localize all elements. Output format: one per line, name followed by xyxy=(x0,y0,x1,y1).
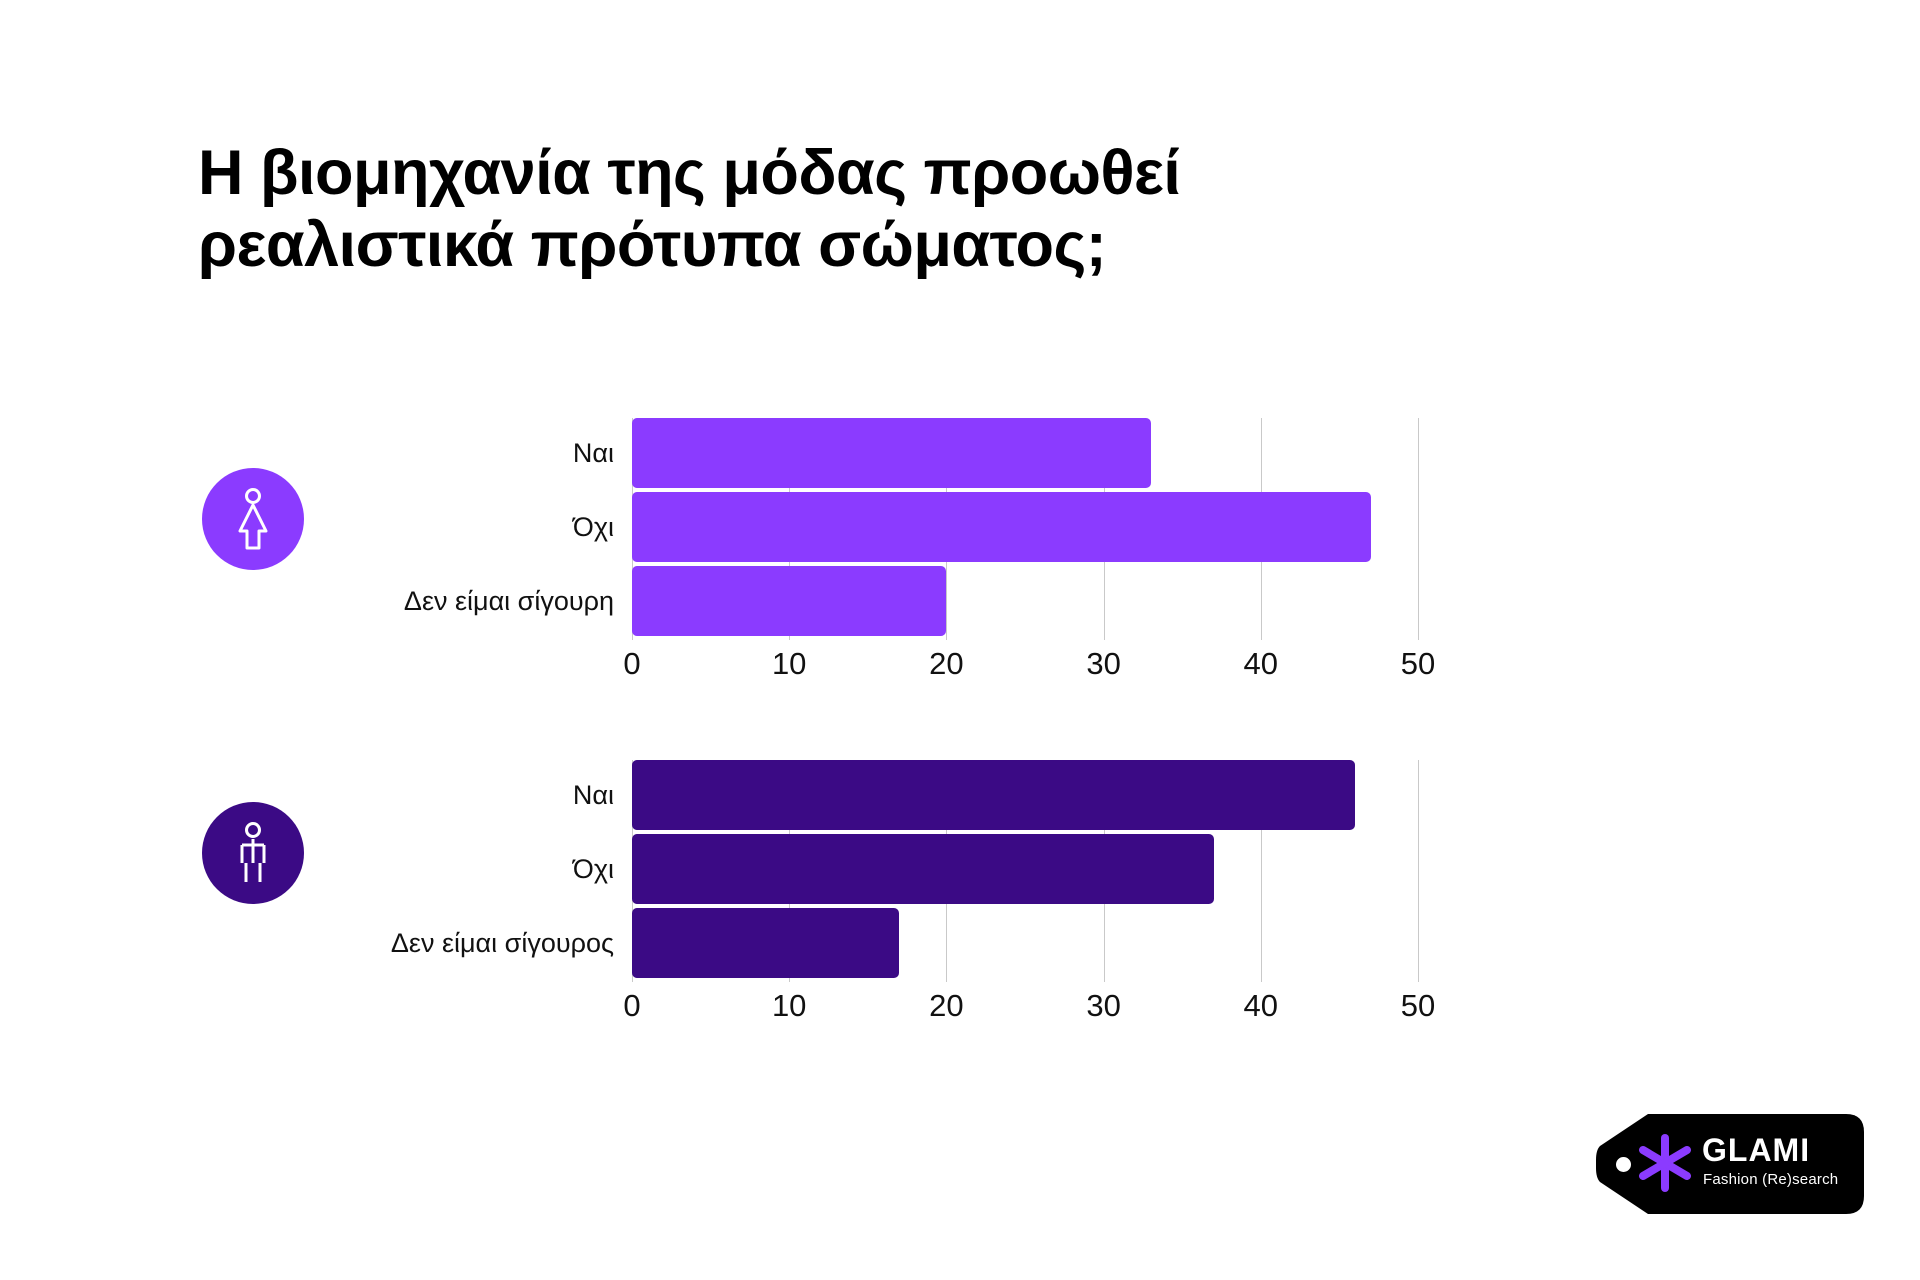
chart-female-group: ΝαιΌχιΔεν είμαι σίγουρη 01020304050 xyxy=(0,418,1920,688)
category-label: Ναι xyxy=(212,780,632,811)
x-axis-tick-label: 50 xyxy=(1401,988,1435,1024)
x-axis-tick-label: 10 xyxy=(772,646,806,682)
infographic-canvas: Η βιομηχανία της μόδας προωθεί ρεαλιστικ… xyxy=(0,0,1920,1280)
x-axis-tick-label: 0 xyxy=(623,646,640,682)
bar xyxy=(632,834,1214,904)
bar-rows-male: ΝαιΌχιΔεν είμαι σίγουρος xyxy=(0,760,1920,982)
x-axis-tick-label: 30 xyxy=(1086,988,1120,1024)
bar xyxy=(632,566,946,636)
chart-row: Ναι xyxy=(0,418,1920,488)
x-axis-tick-label: 20 xyxy=(929,646,963,682)
x-axis-tick-label: 30 xyxy=(1086,646,1120,682)
plot-area-female: ΝαιΌχιΔεν είμαι σίγουρη 01020304050 xyxy=(0,418,1920,688)
bar-rows-female: ΝαιΌχιΔεν είμαι σίγουρη xyxy=(0,418,1920,640)
x-axis-tick-label: 10 xyxy=(772,988,806,1024)
x-axis-tick-label: 40 xyxy=(1244,988,1278,1024)
bar xyxy=(632,908,899,978)
x-axis-tick-label: 40 xyxy=(1244,646,1278,682)
chart-row: Ναι xyxy=(0,760,1920,830)
chart-male-group: ΝαιΌχιΔεν είμαι σίγουρος 01020304050 xyxy=(0,760,1920,1030)
glami-wordmark: GLAMI xyxy=(1702,1134,1810,1166)
x-axis-female: 01020304050 xyxy=(632,646,1418,694)
glami-tagline: Fashion (Re)search xyxy=(1703,1172,1838,1187)
x-axis-male: 01020304050 xyxy=(632,988,1418,1036)
tag-hole-icon xyxy=(1616,1157,1631,1172)
category-label: Ναι xyxy=(212,438,632,469)
chart-row: Δεν είμαι σίγουρος xyxy=(0,908,1920,978)
page-title: Η βιομηχανία της μόδας προωθεί ρεαλιστικ… xyxy=(198,138,1598,282)
bar xyxy=(632,418,1151,488)
chart-row: Όχι xyxy=(0,834,1920,904)
x-axis-tick-label: 20 xyxy=(929,988,963,1024)
category-label: Όχι xyxy=(212,854,632,885)
x-axis-tick-label: 50 xyxy=(1401,646,1435,682)
bar xyxy=(632,492,1371,562)
bar xyxy=(632,760,1355,830)
category-label: Δεν είμαι σίγουρη xyxy=(212,586,632,617)
x-axis-tick-label: 0 xyxy=(623,988,640,1024)
chart-row: Δεν είμαι σίγουρη xyxy=(0,566,1920,636)
plot-area-male: ΝαιΌχιΔεν είμαι σίγουρος 01020304050 xyxy=(0,760,1920,1030)
category-label: Δεν είμαι σίγουρος xyxy=(212,928,632,959)
chart-row: Όχι xyxy=(0,492,1920,562)
category-label: Όχι xyxy=(212,512,632,543)
asterisk-icon xyxy=(1636,1134,1694,1192)
glami-logo: GLAMI Fashion (Re)search xyxy=(1594,1112,1866,1216)
